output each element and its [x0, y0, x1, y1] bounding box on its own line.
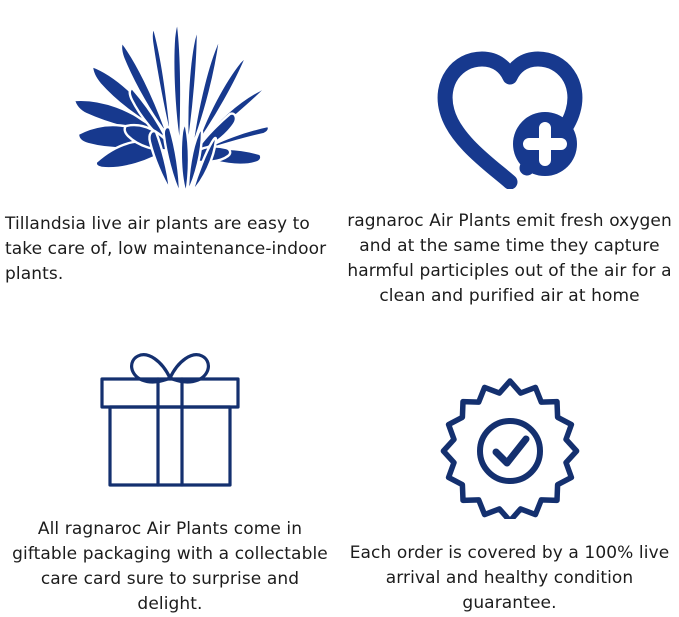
feature-grid: Tillandsia live air plants are easy to t… [0, 0, 679, 617]
guarantee-badge-icon [438, 375, 582, 519]
feature-cell-fresh-oxygen: ragnaroc Air Plants emit fresh oxygen an… [340, 0, 679, 309]
icon-area [340, 309, 679, 519]
feature-cell-easy-care: Tillandsia live air plants are easy to t… [0, 0, 340, 309]
feature-caption: All ragnaroc Air Plants come in giftable… [0, 495, 340, 617]
feature-cell-live-arrival-guarantee: Each order is covered by a 100% live arr… [340, 309, 679, 617]
icon-area [340, 0, 679, 189]
gift-box-icon [90, 345, 250, 495]
feature-caption: Tillandsia live air plants are easy to t… [0, 198, 340, 287]
air-plant-icon [70, 22, 270, 198]
feature-caption: ragnaroc Air Plants emit fresh oxygen an… [340, 189, 679, 309]
feature-caption: Each order is covered by a 100% live arr… [340, 519, 679, 616]
feature-cell-giftable-packaging: All ragnaroc Air Plants come in giftable… [0, 309, 340, 617]
icon-area [0, 309, 340, 495]
heart-plus-icon [435, 49, 585, 189]
icon-area [0, 0, 340, 198]
